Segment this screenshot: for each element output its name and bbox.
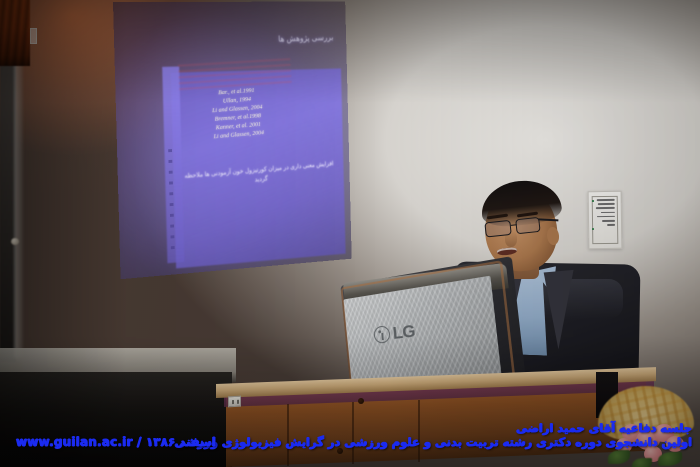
photo-vignette [0,0,700,467]
photo-scene: بررسی پژوهش ها Bar., et al.1991 Ullan, 1… [0,0,700,467]
